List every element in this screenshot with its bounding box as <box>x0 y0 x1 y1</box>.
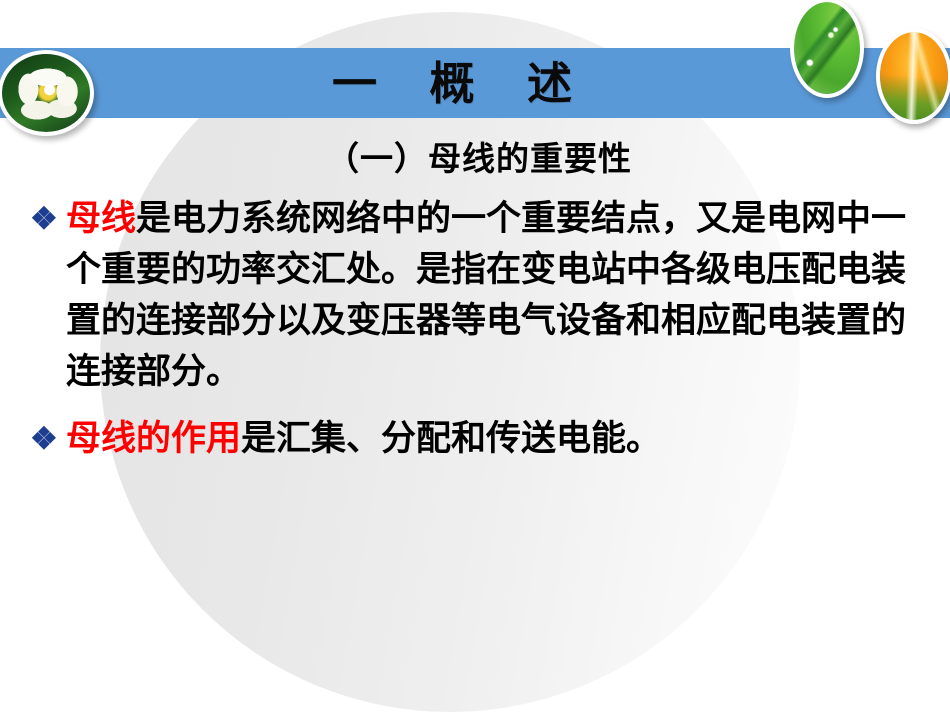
grass-orb-icon <box>876 28 950 124</box>
diamond-bullet-icon: ❖ <box>30 193 66 244</box>
bullet-keyword: 母线的作用 <box>66 419 241 458</box>
bullet-item: ❖母线是电力系统网络中的一个重要结点，又是电网中一个重要的功率交汇处。是指在变电… <box>30 193 920 397</box>
bullet-body: 是汇集、分配和传送电能。 <box>241 419 661 458</box>
bullet-text: 母线的作用是汇集、分配和传送电能。 <box>66 413 912 464</box>
presentation-slide: 一 概 述 （一）母线的重要性 ❖母线是电力系统网络中的一个重要结点，又是电网中… <box>0 0 950 714</box>
slide-body: ❖母线是电力系统网络中的一个重要结点，又是电网中一个重要的功率交汇处。是指在变电… <box>30 193 920 472</box>
bullet-item: ❖母线的作用是汇集、分配和传送电能。 <box>30 413 920 464</box>
flower-orb-image <box>2 54 90 132</box>
diamond-bullet-icon: ❖ <box>30 413 66 464</box>
leaf-orb-image <box>794 2 860 94</box>
bullet-keyword: 母线 <box>66 199 136 238</box>
grass-orb-image <box>880 32 948 120</box>
leaf-orb-icon <box>790 0 864 98</box>
flower-orb-icon <box>0 50 94 136</box>
bullet-body: 是电力系统网络中的一个重要结点，又是电网中一个重要的功率交汇处。是指在变电站中各… <box>66 199 906 391</box>
bullet-text: 母线是电力系统网络中的一个重要结点，又是电网中一个重要的功率交汇处。是指在变电站… <box>66 193 912 397</box>
section-subtitle: （一）母线的重要性 <box>0 132 950 180</box>
